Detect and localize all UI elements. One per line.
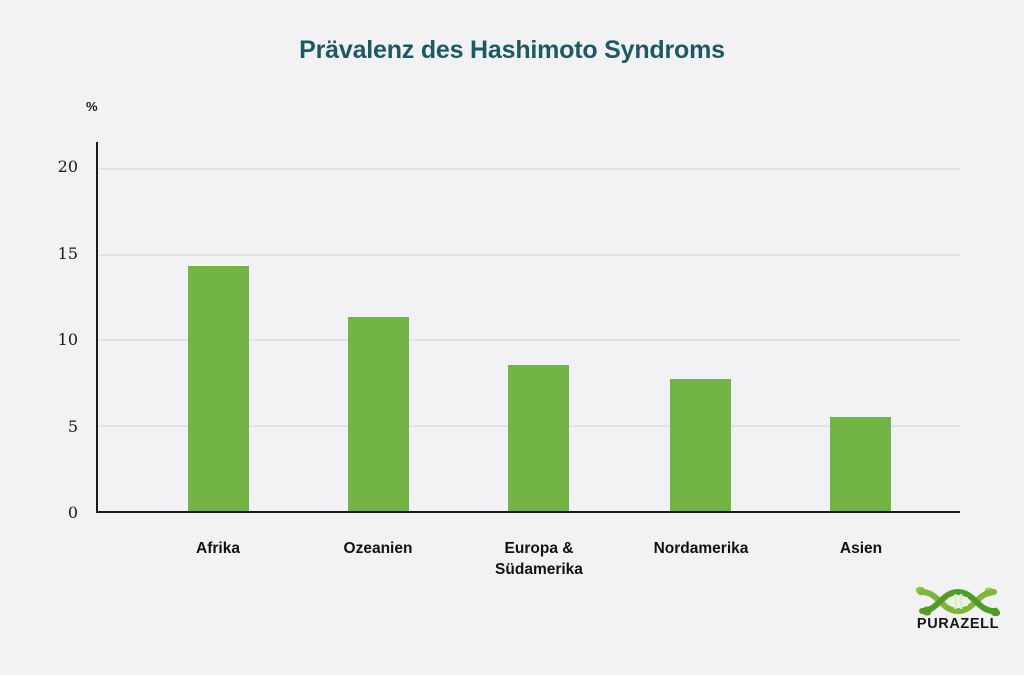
bar-rect xyxy=(508,365,569,511)
x-tick-label-afrika: Afrika xyxy=(128,538,308,559)
x-tick-label-line: Südamerika xyxy=(449,559,629,580)
y-tick-label-20: 20 xyxy=(8,157,78,176)
x-tick-label-nordamerika: Nordamerika xyxy=(611,538,791,559)
y-axis-line xyxy=(96,142,98,511)
brand-logo: PURAZELL xyxy=(912,585,1004,637)
x-tick-label-line: Ozeanien xyxy=(288,538,468,559)
brand-wordmark: PURAZELL xyxy=(912,616,1004,632)
chart-page: { "chart_data": { "type": "bar", "title"… xyxy=(0,0,1024,675)
x-tick-label-ozeanien: Ozeanien xyxy=(288,538,468,559)
page-title: Prävalenz des Hashimoto Syndroms xyxy=(0,36,1024,65)
y-tick-label-0: 0 xyxy=(8,503,78,522)
x-tick-label-europa-suedamerika: Europa & Südamerika xyxy=(449,538,629,580)
x-tick-label-line: Europa & xyxy=(449,538,629,559)
gridline-20 xyxy=(98,168,960,170)
y-tick-label-15: 15 xyxy=(8,244,78,263)
gridline-15 xyxy=(98,254,960,256)
plot-area xyxy=(96,142,960,511)
x-tick-label-line: Nordamerika xyxy=(611,538,791,559)
y-axis-unit-label: % xyxy=(86,99,98,114)
x-tick-label-line: Asien xyxy=(771,538,951,559)
y-tick-label-5: 5 xyxy=(8,417,78,436)
x-axis-line xyxy=(96,511,960,513)
bar-rect xyxy=(830,417,891,511)
x-tick-label-asien: Asien xyxy=(771,538,951,559)
bar-rect xyxy=(348,317,409,511)
dna-leaf-helix-icon xyxy=(912,585,1004,618)
bar-rect xyxy=(188,266,249,511)
bar-rect xyxy=(670,379,731,511)
y-tick-label-10: 10 xyxy=(8,330,78,349)
x-tick-label-line: Afrika xyxy=(128,538,308,559)
